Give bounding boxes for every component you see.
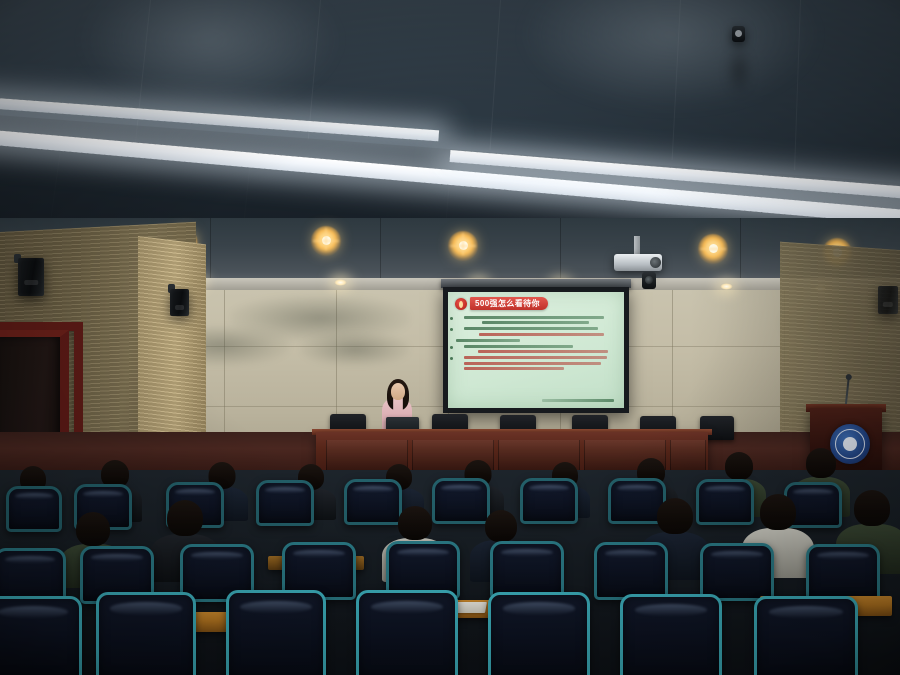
audience-chair[interactable] bbox=[356, 590, 458, 675]
wall-speaker bbox=[18, 258, 44, 296]
ceiling bbox=[0, 0, 900, 240]
audience-chair[interactable] bbox=[0, 596, 82, 675]
projector-lens-icon bbox=[650, 257, 661, 268]
presenter-head bbox=[391, 383, 405, 400]
slide-logo-icon bbox=[455, 298, 467, 310]
wall-speaker bbox=[878, 286, 898, 314]
projector-mount bbox=[634, 236, 640, 256]
audience-chair[interactable] bbox=[226, 590, 326, 675]
audience-chair[interactable] bbox=[256, 480, 314, 526]
room-camera-icon bbox=[642, 272, 656, 289]
recessed-downlight bbox=[334, 279, 347, 286]
audience-chair[interactable] bbox=[96, 592, 196, 675]
slide-attribution bbox=[542, 399, 614, 402]
audience-chair[interactable] bbox=[620, 594, 722, 675]
slide-paragraph bbox=[456, 339, 616, 342]
audience-chair[interactable] bbox=[594, 542, 668, 600]
slide-title-banner: 500强怎么看待你 bbox=[470, 297, 548, 310]
ceiling-camera-icon bbox=[732, 26, 745, 42]
recessed-downlight bbox=[720, 283, 733, 290]
slide-paragraph bbox=[456, 356, 616, 370]
audience-chair[interactable] bbox=[488, 592, 590, 675]
lecture-hall-photo: 500强怎么看待你 bbox=[0, 0, 900, 675]
audience-chair[interactable] bbox=[700, 543, 774, 601]
audience-chair[interactable] bbox=[6, 486, 62, 532]
slide-title: 500强怎么看待你 bbox=[475, 298, 540, 310]
audience-chair[interactable] bbox=[806, 544, 880, 602]
slide-paragraph bbox=[456, 327, 616, 335]
slide-paragraph bbox=[456, 316, 616, 324]
slide-surface: 500强怎么看待你 bbox=[448, 292, 624, 408]
slide-body bbox=[456, 316, 616, 392]
wall-speaker bbox=[170, 289, 189, 316]
projection-screen: 500强怎么看待你 bbox=[443, 287, 629, 413]
audience-chair[interactable] bbox=[490, 541, 564, 599]
audience-chair[interactable] bbox=[754, 596, 858, 675]
slide-paragraph bbox=[456, 345, 616, 353]
